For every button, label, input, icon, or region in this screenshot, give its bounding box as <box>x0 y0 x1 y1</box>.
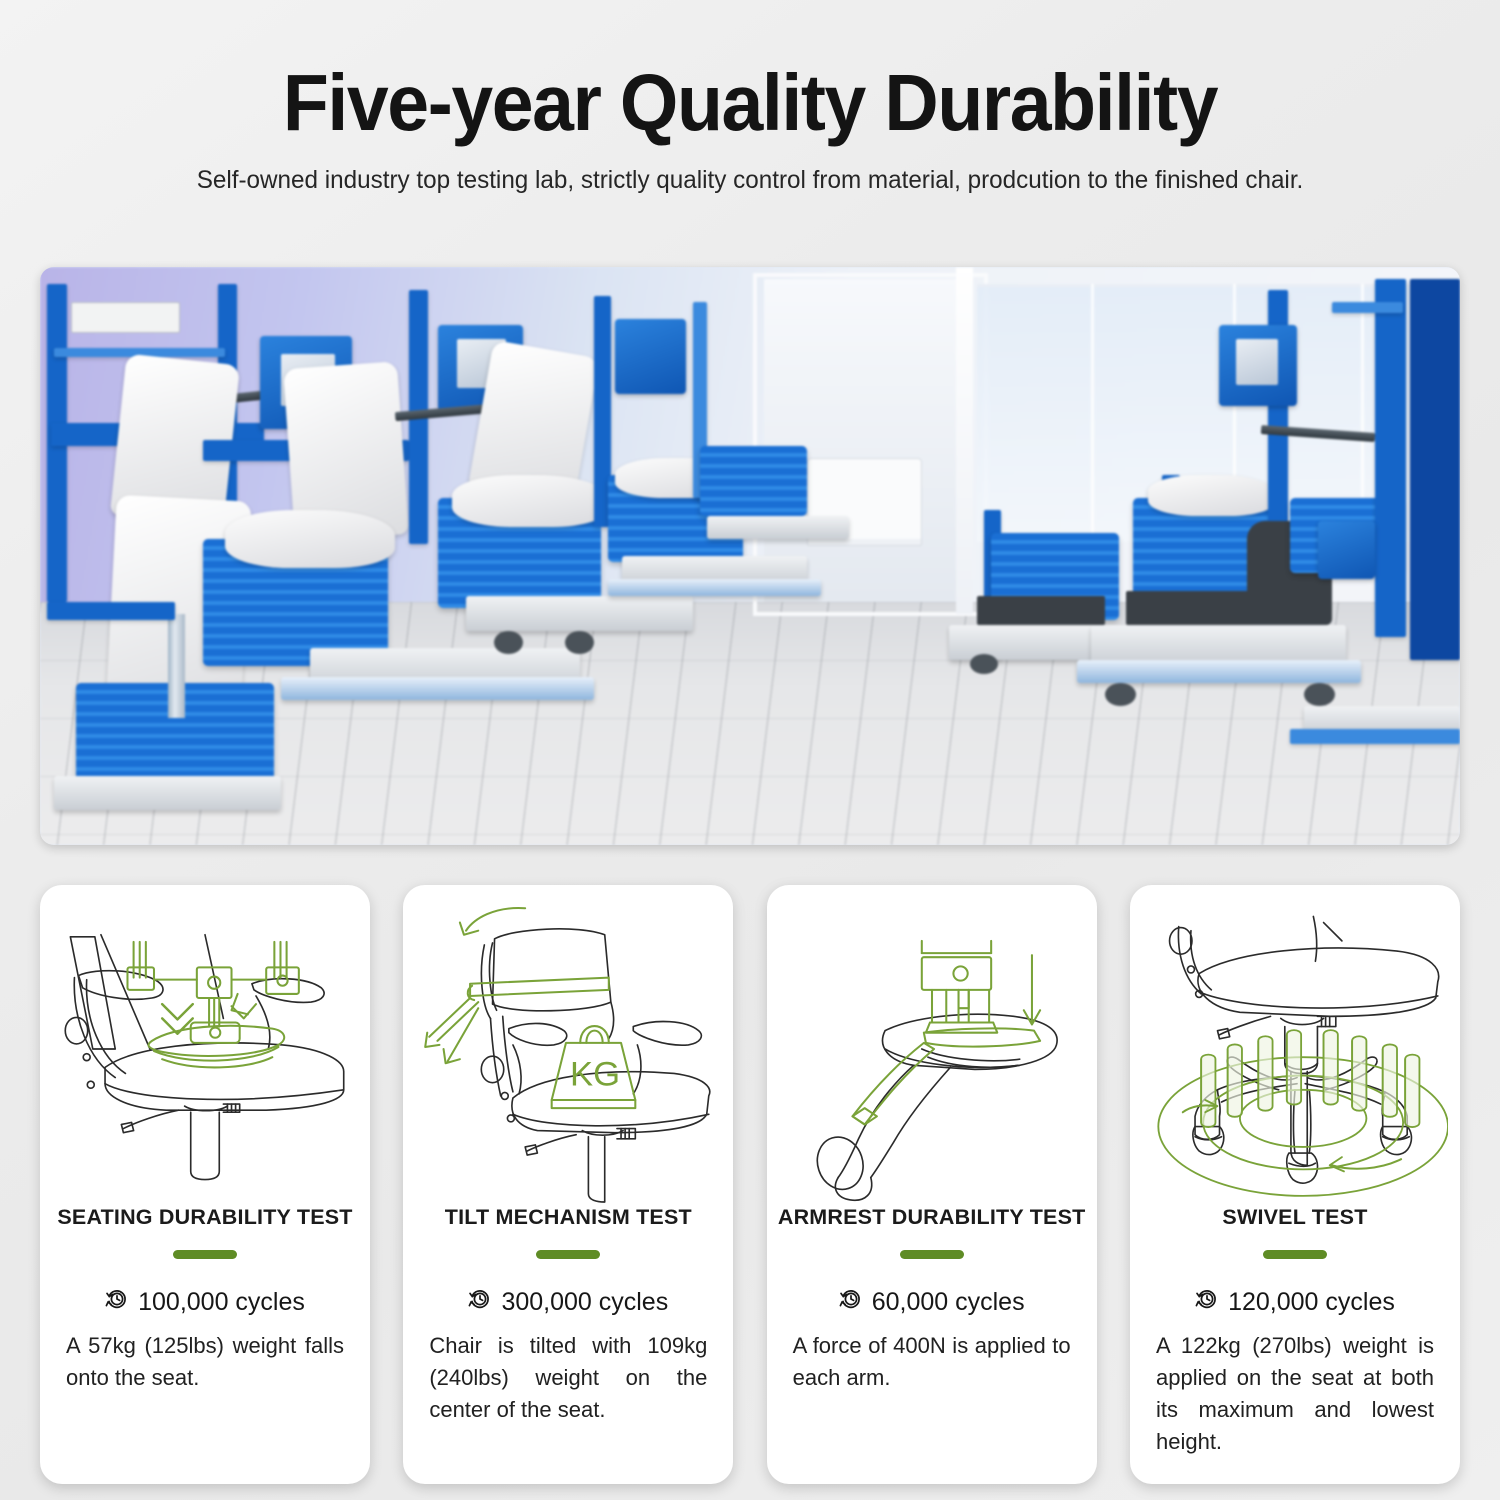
chair-base-sample <box>977 596 1105 625</box>
test-platform <box>707 516 849 539</box>
title-divider <box>900 1250 964 1259</box>
card-seating-durability-test[interactable]: SEATING DURABILITY TEST 100,000 cycles A… <box>40 885 370 1484</box>
page-header: Five-year Quality Durability Self-owned … <box>0 0 1500 195</box>
cycle-clock-icon <box>839 1287 863 1318</box>
card-description: A force of 400N is applied to each arm. <box>793 1330 1071 1394</box>
card-description: Chair is tilted with 109kg (240lbs) weig… <box>429 1330 707 1426</box>
seat-press-test-illustration <box>40 885 370 1203</box>
rig-column <box>1375 279 1406 637</box>
weight-stack <box>700 446 807 515</box>
cycles-value: 300,000 cycles <box>501 1288 668 1317</box>
glass-mullion <box>1091 284 1094 538</box>
card-title: SWIVEL TEST <box>1130 1205 1460 1230</box>
wall-partition <box>956 267 973 614</box>
card-tilt-mechanism-test[interactable]: KG TILT MECHANISM TEST 300,000 cycles Ch… <box>403 885 733 1484</box>
tilt-weight-test-illustration: KG <box>403 885 733 1203</box>
card-description: A 57kg (125lbs) weight falls onto the se… <box>66 1330 344 1394</box>
platform-rail <box>1290 729 1460 743</box>
chair-seat-sample <box>452 475 608 527</box>
page-subtitle: Self-owned industry top testing lab, str… <box>23 166 1478 195</box>
title-divider <box>173 1250 237 1259</box>
cycle-clock-icon <box>468 1287 492 1318</box>
rig-crossbar <box>1332 302 1403 314</box>
title-divider <box>536 1250 600 1259</box>
press-post <box>168 614 185 718</box>
cycles-row: 100,000 cycles <box>40 1287 370 1318</box>
card-description: A 122kg (270lbs) weight is applied on th… <box>1156 1330 1434 1458</box>
cycle-clock-icon <box>105 1287 129 1318</box>
lab-scene <box>40 267 1460 845</box>
cycles-value: 120,000 cycles <box>1228 1288 1395 1317</box>
platform-rail <box>1077 660 1361 683</box>
weight-kg-label: KG <box>570 1056 620 1094</box>
cycles-value: 60,000 cycles <box>872 1288 1025 1317</box>
rig-crossbar <box>47 602 175 619</box>
test-platform <box>54 776 281 811</box>
rig-column <box>1410 279 1460 660</box>
page-title: Five-year Quality Durability <box>45 62 1455 144</box>
caster-wheel <box>565 631 593 654</box>
card-title: TILT MECHANISM TEST <box>403 1205 733 1230</box>
control-panel <box>615 319 686 394</box>
control-panel <box>1318 521 1375 579</box>
platform-rail <box>608 579 821 596</box>
card-swivel-test[interactable]: SWIVEL TEST 120,000 cycles A 122kg (270l… <box>1130 885 1460 1484</box>
cycles-row: 60,000 cycles <box>767 1287 1097 1318</box>
swivel-base-test-illustration <box>1130 885 1460 1203</box>
panel-screen <box>1236 339 1279 385</box>
cycle-clock-icon <box>1195 1287 1219 1318</box>
card-armrest-durability-test[interactable]: ARMREST DURABILITY TEST 60,000 cycles A … <box>767 885 1097 1484</box>
card-title: SEATING DURABILITY TEST <box>40 1205 370 1230</box>
cycles-row: 300,000 cycles <box>403 1287 733 1318</box>
card-title: ARMREST DURABILITY TEST <box>767 1205 1097 1230</box>
cycles-value: 100,000 cycles <box>138 1288 305 1317</box>
caster-wheel <box>494 631 522 654</box>
armrest-press-test-illustration <box>767 885 1097 1203</box>
platform-rail <box>281 677 593 700</box>
test-platform <box>466 596 693 631</box>
chair-seat-sample <box>225 510 395 568</box>
testing-lab-photo <box>40 267 1460 845</box>
test-cards-row: SEATING DURABILITY TEST 100,000 cycles A… <box>40 885 1460 1484</box>
title-divider <box>1263 1250 1327 1259</box>
cycles-row: 120,000 cycles <box>1130 1287 1460 1318</box>
chair-seat-sample <box>1148 475 1276 515</box>
machine-label <box>71 302 180 333</box>
